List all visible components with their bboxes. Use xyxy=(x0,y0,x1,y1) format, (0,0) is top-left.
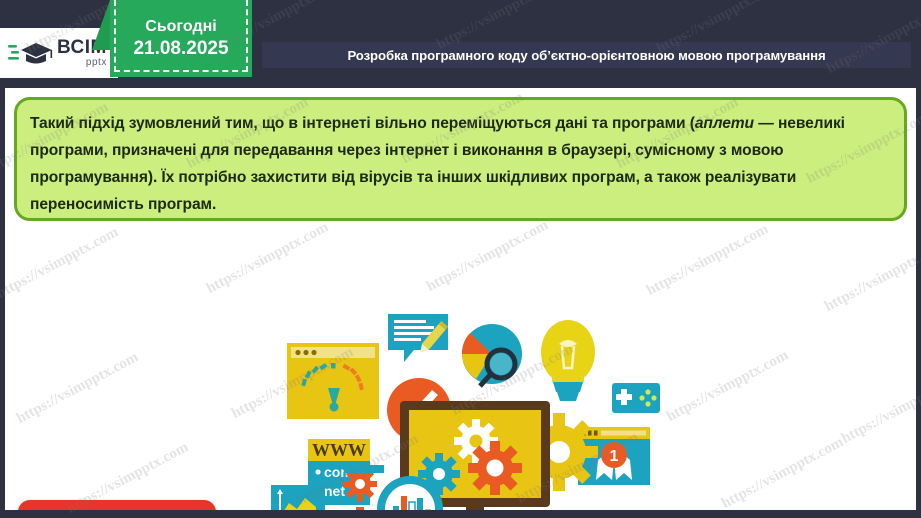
page-title: Розробка програмного коду об’єктно-орієн… xyxy=(262,42,911,68)
teal-accent-icon xyxy=(344,460,384,478)
today-date: 21.08.2025 xyxy=(133,38,228,60)
slide-header: ВСІМ pptx Сьогодні 21.08.2025 Розробка п… xyxy=(0,0,921,88)
lightbulb-icon xyxy=(540,318,596,409)
paragraph-part-1: Такий підхід зумовлений тим, що в інтерн… xyxy=(30,115,695,132)
page-title-text: Розробка програмного коду об’єктно-орієн… xyxy=(347,48,825,63)
content-text-box: Такий підхід зумовлений тим, що в інтерн… xyxy=(14,97,907,221)
today-label: Сьогодні xyxy=(145,18,216,36)
browser-gauge-icon xyxy=(287,343,379,424)
bottom-strip xyxy=(0,510,921,518)
today-date-badge: Сьогодні 21.08.2025 xyxy=(110,0,252,77)
illustration-collage: WWW com net xyxy=(5,223,916,510)
award-number: 1 xyxy=(610,448,619,465)
logo-sub-text: pptx xyxy=(57,58,107,68)
slide-canvas: ВСІМ pptx Сьогодні 21.08.2025 Розробка п… xyxy=(0,0,921,518)
svg-text:WWW: WWW xyxy=(312,440,366,460)
content-paragraph: Такий підхід зумовлений тим, що в інтерн… xyxy=(30,110,891,218)
gamepad-icon xyxy=(612,383,660,418)
graduation-cap-icon xyxy=(8,38,54,68)
slide-body: Такий підхід зумовлений тим, що в інтерн… xyxy=(5,88,916,510)
paragraph-italic-term: аплети xyxy=(695,115,754,132)
chat-bubble-pencil-icon xyxy=(388,314,448,371)
pie-chart-magnifier-icon xyxy=(462,324,530,397)
